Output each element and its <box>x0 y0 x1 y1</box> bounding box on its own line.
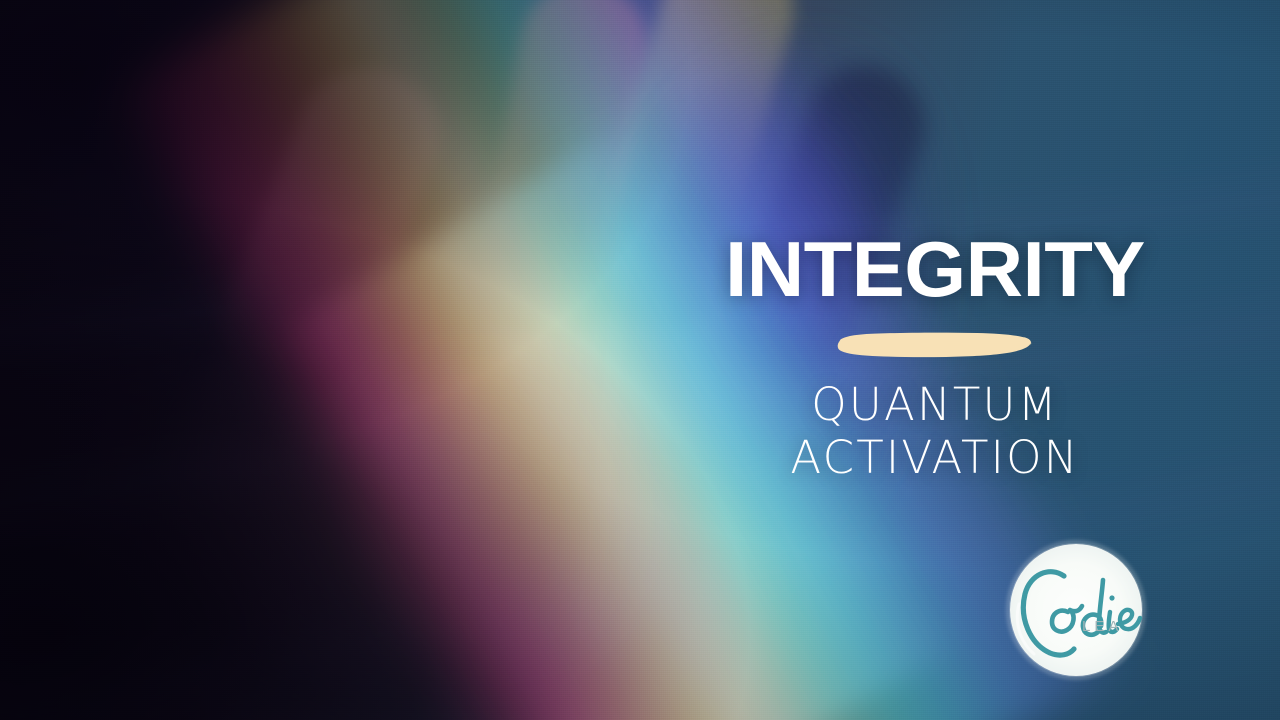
hand-palm-shape <box>99 194 762 720</box>
brush-stroke-icon <box>837 328 1033 362</box>
page-title: INTEGRITY <box>695 232 1174 306</box>
promo-graphic-canvas: INTEGRITY QUANTUM ACTIVATION <box>0 0 1280 720</box>
hand-index-finger-shape <box>470 0 659 348</box>
brush-stroke-divider <box>837 328 1033 362</box>
brand-logo[interactable]: LEA <box>1006 540 1146 680</box>
subtitle-line-2: ACTIVATION <box>700 431 1170 484</box>
page-subtitle: QUANTUM ACTIVATION <box>700 378 1170 484</box>
blue-violet-glow-lower <box>470 470 770 720</box>
logo-surname: LEA <box>1082 618 1122 635</box>
warm-skin-highlight <box>275 281 716 720</box>
headline-block: INTEGRITY QUANTUM ACTIVATION <box>700 232 1170 484</box>
subtitle-line-1: QUANTUM <box>811 378 1058 431</box>
hand-thumb-shape <box>205 48 458 406</box>
logo-script-icon <box>1006 540 1146 680</box>
